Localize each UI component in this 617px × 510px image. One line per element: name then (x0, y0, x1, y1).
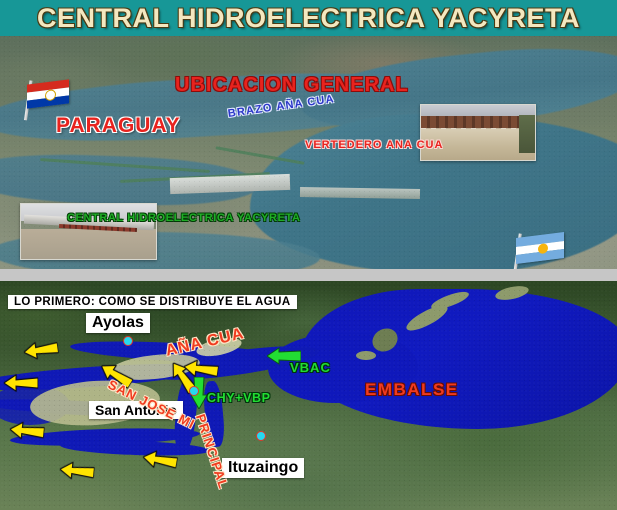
argentina-flag (513, 233, 569, 269)
photo-river-water (21, 229, 156, 259)
city-marker-ayolas (123, 336, 133, 346)
vertedero-ana-cua-photo (420, 104, 536, 161)
flow-arrow-yellow-4 (59, 459, 95, 482)
label-ayolas: Ayolas (86, 313, 150, 333)
ubicacion-general-map: UBICACION GENERAL PARAGUAY BRAZO AÑA CUA… (0, 36, 617, 269)
ubicacion-general-heading: UBICACION GENERAL (175, 74, 409, 97)
label-chy-vbp: CHY+VBP (207, 391, 271, 405)
distribucion-del-agua-map: LO PRIMERO: COMO SE DISTRIBUYE EL AGUA A… (0, 281, 617, 510)
panel-divider (0, 269, 617, 281)
slide-title-bar: CENTRAL HIDROELECTRICA YACYRETA (0, 0, 617, 36)
flag-cloth (516, 232, 564, 264)
slide-root: CENTRAL HIDROELECTRICA YACYRETA (0, 0, 617, 510)
page-title: CENTRAL HIDROELECTRICA YACYRETA (37, 3, 580, 34)
label-central-hidroelectrica: CENTRAL HIDROELECTRICA YACYRETA (67, 212, 301, 224)
banner-lo-primero: LO PRIMERO: COMO SE DISTRIBUYE EL AGUA (8, 295, 297, 309)
label-embalse: EMBALSE (365, 380, 459, 400)
flow-arrow-yellow-1 (4, 373, 38, 393)
flag-cloth (27, 79, 69, 108)
label-ituzaingo: Ituzaingo (222, 458, 304, 478)
photo-riverbank (519, 115, 535, 154)
city-marker-ituzaingo (256, 431, 266, 441)
label-paraguay: PARAGUAY (56, 114, 181, 138)
flow-arrow-yellow-3 (9, 419, 45, 442)
label-vbac: VBAC (290, 360, 331, 375)
city-marker-san-antonio (189, 386, 199, 396)
label-vertedero-ana-cua: VERTEDERO ANA CUA (305, 139, 443, 151)
